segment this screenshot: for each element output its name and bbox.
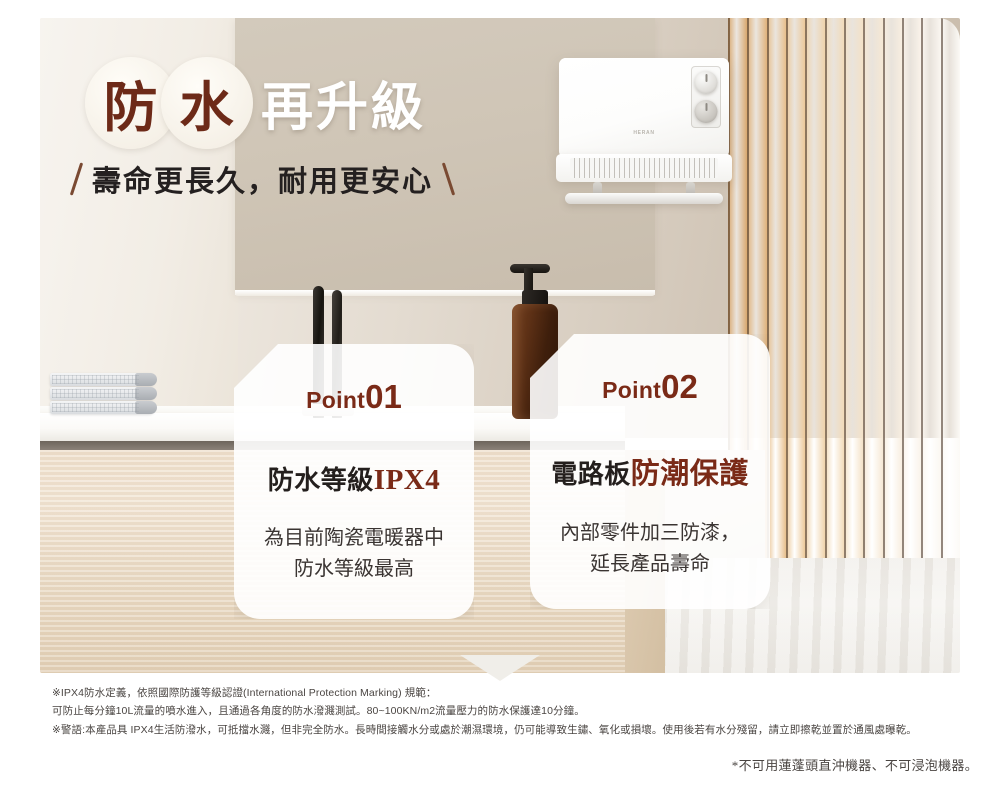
point-desc-line2-02: 延長產品壽命 — [560, 549, 740, 580]
heater-knob-upper — [695, 71, 718, 94]
point-title-plain-01: 防水等級 — [268, 466, 374, 495]
point-title-02: 電路板防潮保護 — [551, 450, 749, 492]
point-desc-line1-01: 為目前陶瓷電暖器中 — [264, 523, 444, 554]
usage-warning: *不可用蓮蓬頭直沖機器、不可浸泡機器。 — [732, 755, 978, 774]
heater-vent-grille — [570, 158, 718, 178]
heater-vent-housing — [556, 154, 732, 182]
point-label-01: Point01 — [306, 378, 402, 416]
point-title-01: 防水等級IPX4 — [268, 460, 440, 497]
product-feature-banner: HERAN 防 水 再升級 壽命更長久，耐用更安心 Point01 — [0, 0, 1000, 794]
heater-stand-bar — [565, 193, 723, 204]
point-number-01: 01 — [365, 378, 402, 415]
footnote-line-3: ※警語:本產品具 IPX4生活防潑水，可抵擋水濺，但非完全防水。長時間接觸水分或… — [52, 721, 952, 739]
headline-char-1: 防 — [104, 63, 159, 142]
point-title-accent-02: 防潮保護 — [631, 458, 749, 490]
headline-rest: 再升級 — [261, 65, 426, 140]
heater-control-panel — [691, 66, 721, 128]
heater-body: HERAN — [559, 58, 729, 158]
point-card-02: Point02 電路板防潮保護 內部零件加三防漆， 延長產品壽命 — [530, 334, 770, 609]
point-desc-line2-01: 防水等級最高 — [264, 554, 444, 585]
heater-brand-logo: HERAN — [633, 130, 654, 136]
point-desc-01: 為目前陶瓷電暖器中 防水等級最高 — [264, 523, 444, 585]
heater-knob-lower — [695, 100, 718, 123]
headline-char-2: 水 — [180, 63, 235, 142]
folded-towels — [50, 373, 155, 417]
subtitle-row: 壽命更長久，耐用更安心 — [75, 158, 450, 200]
heater-stand — [565, 182, 723, 204]
point-word-02: Point — [602, 377, 661, 403]
ceramic-heater-product: HERAN — [559, 58, 729, 208]
headline-circle-2: 水 — [161, 57, 253, 149]
point-desc-02: 內部零件加三防漆， 延長產品壽命 — [560, 518, 740, 580]
point-title-accent-01: IPX4 — [374, 464, 440, 496]
footnote-line-1: ※IPX4防水定義，依照國際防護等級認證(International Prote… — [52, 684, 952, 702]
footnote-line-2: 可防止每分鐘10L流量的噴水進入，且通過各角度的防水潑濺測試。80~100KN/… — [52, 702, 952, 720]
footnotes: ※IPX4防水定義，依照國際防護等級認證(International Prote… — [52, 684, 952, 739]
point-title-plain-02: 電路板 — [551, 460, 631, 489]
headline: 防 水 再升級 — [85, 55, 426, 150]
point-desc-line1-02: 內部零件加三防漆， — [560, 518, 740, 549]
point-number-02: 02 — [661, 368, 698, 405]
point-label-02: Point02 — [602, 368, 698, 406]
subtitle-text: 壽命更長久，耐用更安心 — [92, 158, 433, 200]
point-word-01: Point — [306, 387, 365, 413]
mirror-bottom-edge — [235, 290, 655, 296]
point-card-01: Point01 防水等級IPX4 為目前陶瓷電暖器中 防水等級最高 — [234, 344, 474, 619]
